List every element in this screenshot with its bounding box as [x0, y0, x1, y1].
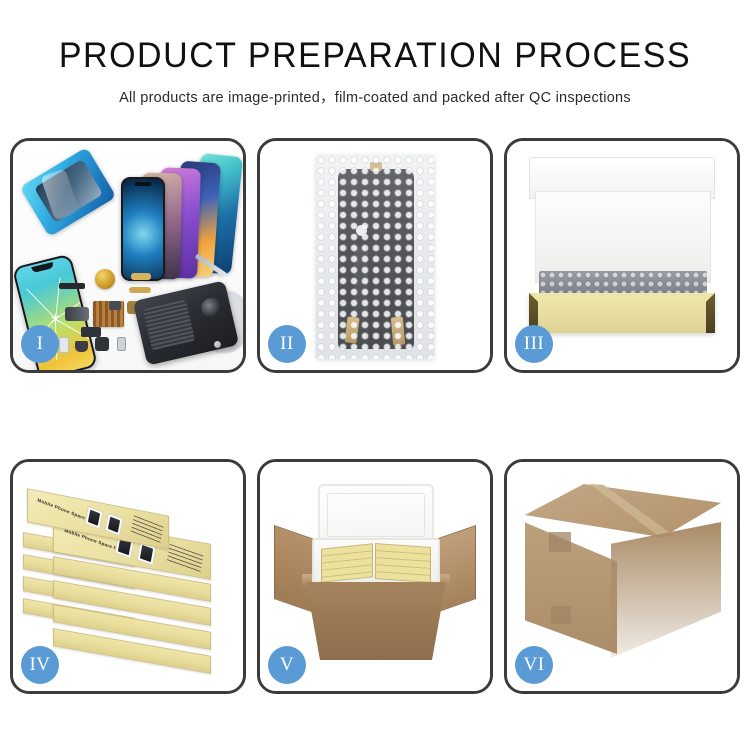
- sealed-carton-icon: [525, 484, 721, 666]
- step-badge-6: VI: [515, 646, 553, 684]
- step-badge-5: V: [268, 646, 306, 684]
- box-stack-icon: Mobile Phone Spare Parts Mobile Phone Sp…: [21, 484, 235, 668]
- yellow-box-stack: [321, 543, 373, 582]
- process-step-2: II: [257, 138, 493, 373]
- component-flex-cable-icon: [65, 307, 89, 321]
- component-part-icon: [59, 337, 69, 353]
- screw-icon: [214, 341, 221, 348]
- component-part-icon: [59, 283, 85, 289]
- product-preparation-page: PRODUCT PREPARATION PROCESS All products…: [0, 0, 750, 750]
- open-carton-icon: [276, 482, 474, 668]
- component-part-icon: [95, 337, 109, 351]
- carton-left-face: [525, 514, 617, 654]
- process-step-1: 08:08: [10, 138, 246, 373]
- styrofoam-lid-icon: [318, 484, 434, 546]
- carton-body: [306, 582, 446, 660]
- page-subtitle: All products are image-printed，film-coat…: [0, 86, 750, 107]
- box-front-panel: [529, 293, 715, 333]
- step-badge-4: IV: [21, 646, 59, 684]
- carton-seam: [551, 606, 571, 624]
- phone-screen-fan: 08:08: [117, 153, 246, 285]
- foam-sheet-icon: [535, 191, 711, 283]
- process-step-5: V: [257, 459, 493, 694]
- component-part-icon: [75, 341, 88, 352]
- process-step-grid: 08:08: [10, 138, 740, 694]
- screen-protector-film-icon: [20, 147, 117, 237]
- process-step-3: III: [504, 138, 740, 373]
- step-badge-3: III: [515, 325, 553, 363]
- component-coin-icon: [95, 269, 115, 289]
- process-step-4: Mobile Phone Spare Parts Mobile Phone Sp…: [10, 459, 246, 694]
- open-inner-box-icon: [521, 157, 723, 337]
- wrapped-screen-icon: [338, 169, 414, 349]
- yellow-box-stack: [375, 543, 431, 583]
- component-part-icon: [117, 337, 126, 351]
- bubble-wrap-bag-icon: [316, 155, 434, 359]
- component-part-icon: [109, 301, 121, 310]
- page-header: PRODUCT PREPARATION PROCESS All products…: [0, 0, 750, 107]
- styrofoam-liner-icon: [312, 538, 440, 584]
- component-part-icon: [81, 327, 101, 337]
- carton-right-face: [611, 522, 721, 658]
- carton-seam: [549, 532, 571, 552]
- phone-icon: [121, 177, 165, 281]
- step-badge-2: II: [268, 325, 306, 363]
- process-step-6: VI: [504, 459, 740, 694]
- page-title: PRODUCT PREPARATION PROCESS: [11, 38, 739, 75]
- step-badge-1: I: [21, 325, 59, 363]
- component-part-icon: [129, 287, 151, 293]
- component-part-icon: [131, 273, 151, 280]
